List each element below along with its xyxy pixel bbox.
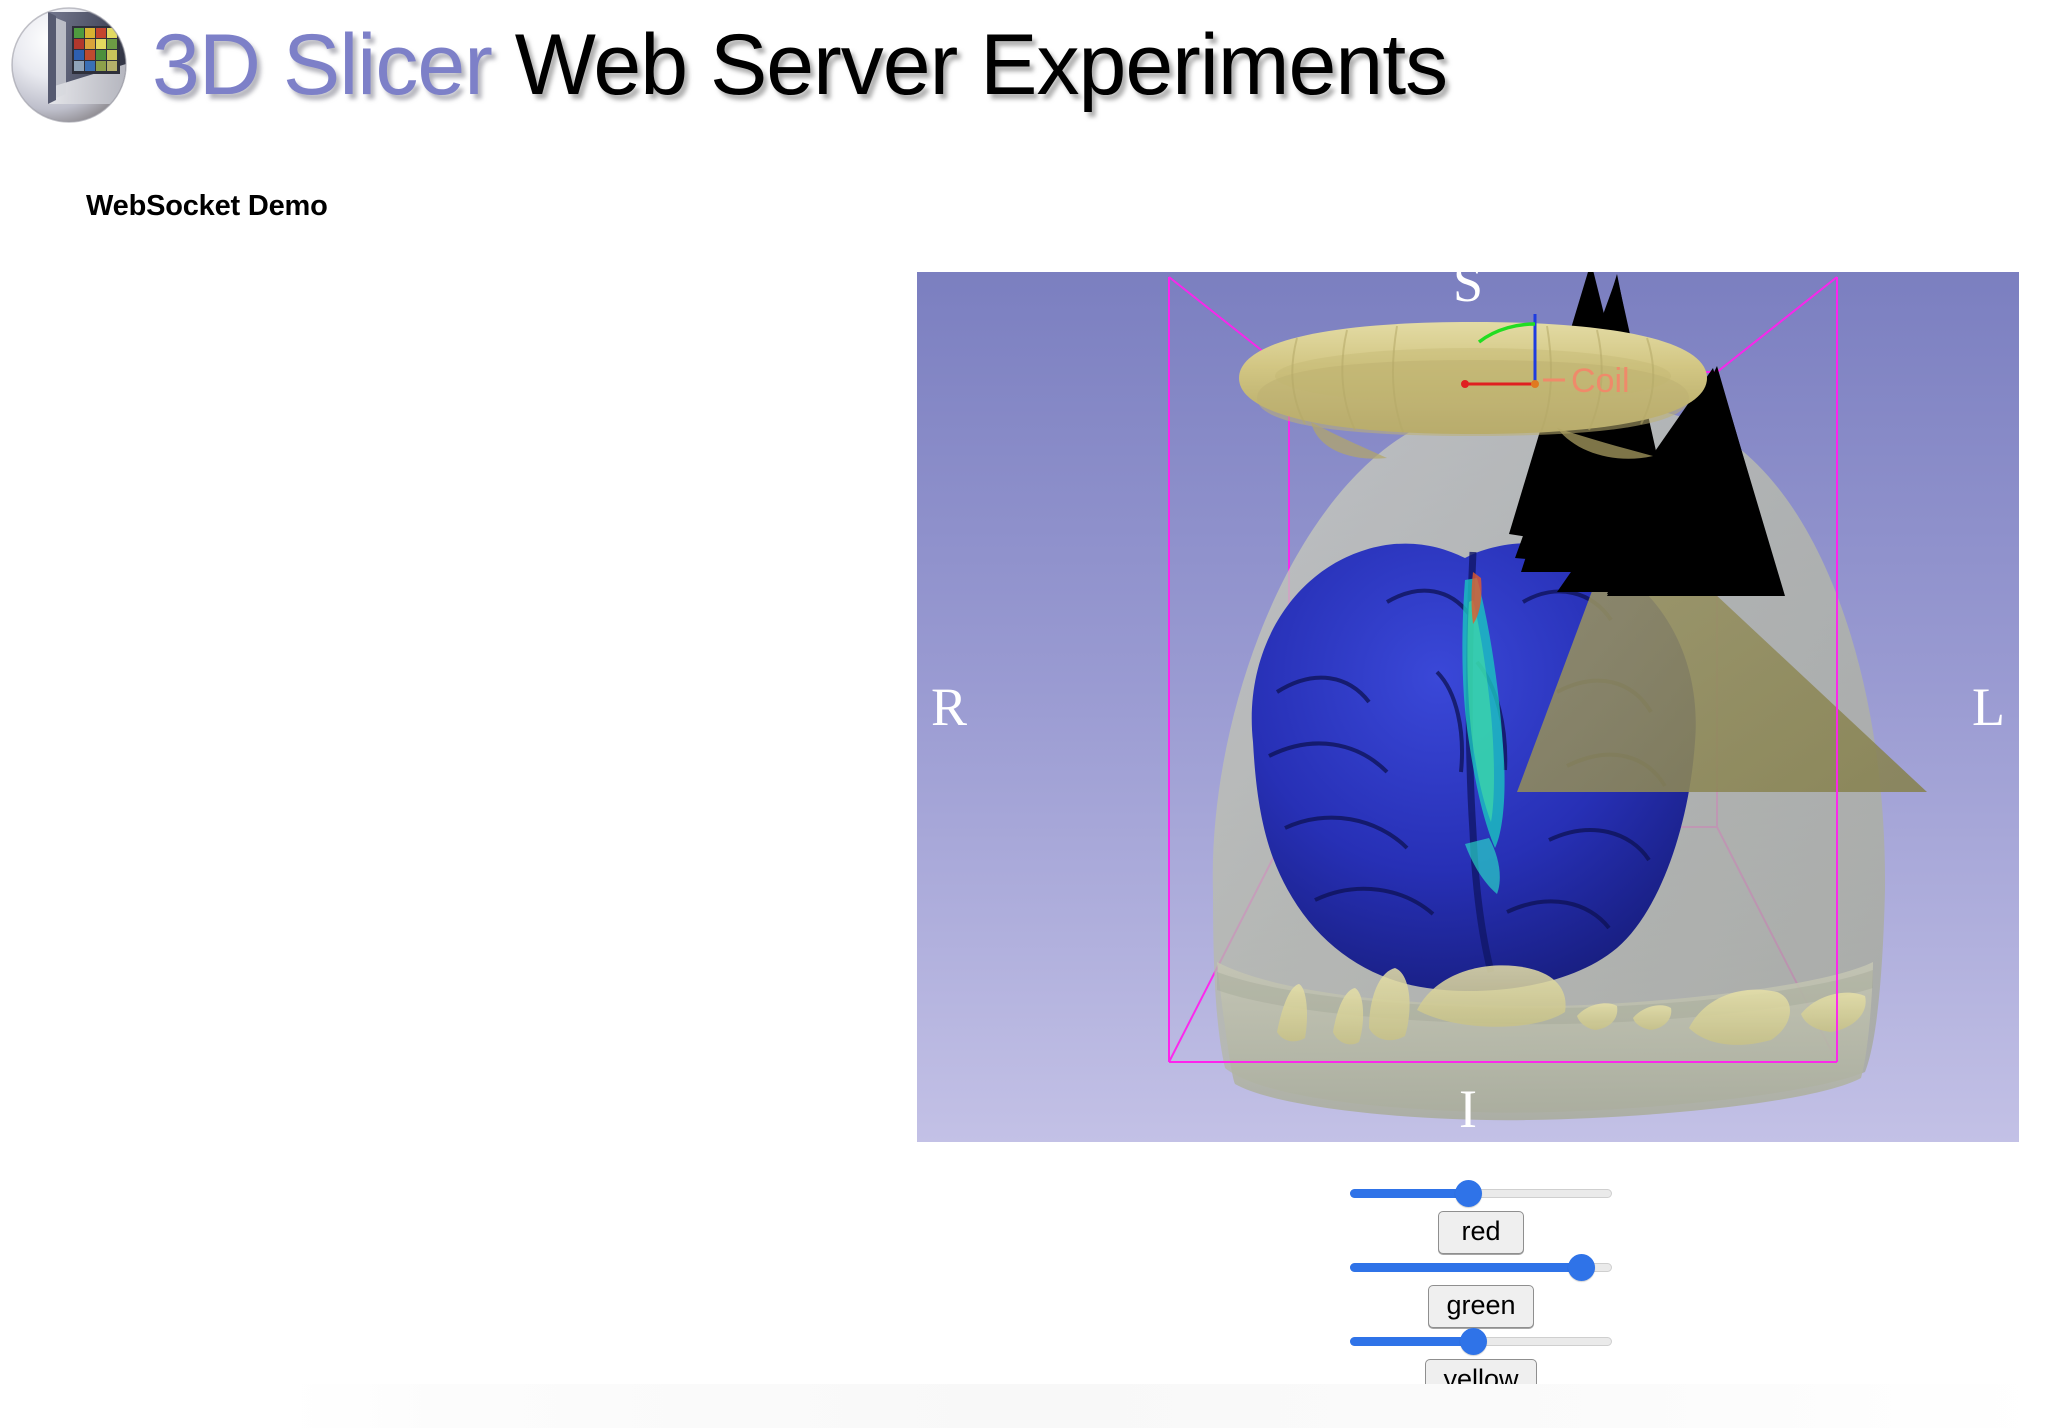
orientation-label-inferior: I bbox=[1459, 1082, 1477, 1136]
page-bottom-fade bbox=[0, 1384, 2046, 1428]
green-control-row: green bbox=[1341, 1254, 1621, 1328]
slicer-3d-render-view[interactable]: Coil S I R L bbox=[917, 272, 2019, 1142]
red-control-row: red bbox=[1341, 1180, 1621, 1254]
red-slider-thumb[interactable] bbox=[1455, 1180, 1482, 1207]
orientation-label-right: R bbox=[931, 680, 967, 734]
page-title: 3D Slicer Web Server Experiments bbox=[152, 20, 1447, 110]
yellow-slider-thumb[interactable] bbox=[1460, 1328, 1487, 1355]
page-subtitle: WebSocket Demo bbox=[86, 190, 328, 223]
yellow-slider-fill bbox=[1350, 1337, 1473, 1346]
slicer-sphere-logo-icon bbox=[8, 4, 130, 126]
yellow-button[interactable]: yellow bbox=[1425, 1359, 1537, 1402]
color-layer-controls: red green yellow bbox=[1341, 1180, 1621, 1402]
green-slider-fill bbox=[1350, 1263, 1581, 1272]
red-button[interactable]: red bbox=[1438, 1211, 1524, 1254]
green-slider[interactable] bbox=[1350, 1254, 1612, 1280]
green-button[interactable]: green bbox=[1428, 1285, 1534, 1328]
green-slider-thumb[interactable] bbox=[1568, 1254, 1595, 1281]
orientation-label-left: L bbox=[1972, 680, 2005, 734]
orientation-label-superior: S bbox=[1453, 272, 1483, 310]
render-canvas[interactable]: Coil S I R L bbox=[917, 272, 2019, 1142]
yellow-slider[interactable] bbox=[1350, 1328, 1612, 1354]
page-title-rest: Web Server Experiments bbox=[492, 17, 1447, 113]
coil-annotation-label: Coil bbox=[1571, 362, 1630, 400]
yellow-control-row: yellow bbox=[1341, 1328, 1621, 1402]
red-slider[interactable] bbox=[1350, 1180, 1612, 1206]
red-slider-fill bbox=[1350, 1189, 1468, 1198]
page-header: 3D Slicer Web Server Experiments bbox=[0, 0, 2046, 160]
page-title-brand: 3D Slicer bbox=[152, 17, 492, 113]
